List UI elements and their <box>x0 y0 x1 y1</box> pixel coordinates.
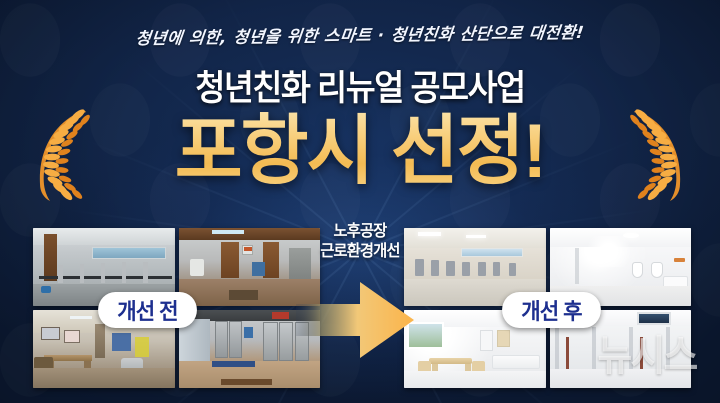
center-label-line-2: 근로환경개선 <box>320 243 399 260</box>
badge-after: 개선 후 <box>502 292 601 328</box>
center-improvement-label: 노후공장 근로환경개선 <box>284 222 436 262</box>
poster-stage: 청년에 의한, 청년을 위한 스마트 · 청년친화 산단으로 대전환! 청년친화… <box>0 0 720 403</box>
headline-block: 포항시 선정! <box>0 104 720 200</box>
laurel-wreath-right-icon <box>622 106 692 202</box>
center-label-line-1: 노후공장 <box>334 223 387 240</box>
badge-before: 개선 전 <box>98 292 197 328</box>
laurel-wreath-left-icon <box>28 106 98 202</box>
arrow-right-icon <box>296 282 414 358</box>
headline-text: 포항시 선정! <box>11 104 709 200</box>
